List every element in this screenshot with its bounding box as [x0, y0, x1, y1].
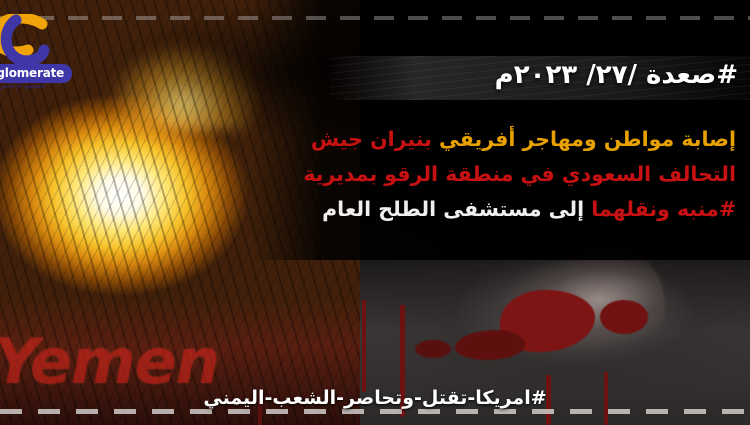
headline-line-2-red: التحالف السعودي في منطقة الرقو بمديرية: [303, 162, 736, 186]
road-dashed-line: [0, 409, 750, 414]
headline-line-2: التحالف السعودي في منطقة الرقو بمديرية: [276, 157, 736, 192]
headline-line-1: إصابة مواطن ومهاجر أفريقي بنيران جيش: [276, 122, 736, 157]
logo-mark-icon: [0, 14, 58, 66]
headline-line-3: #منبه ونقلهما إلى مستشفى الطلح العام: [276, 192, 736, 227]
kicker-date-location: #صعدة /٢٧/ ٢٠٢٣م: [495, 60, 738, 90]
headline-line-1-red: بنيران جيش: [311, 127, 439, 151]
news-graphic-canvas: onglomerate المجمع الإعلامي اليمني #صعدة…: [0, 0, 750, 425]
bottom-hashtag: #امريكا-تقتل-وتحاصر-الشعب-اليمني: [0, 387, 750, 409]
top-dashed-line: [0, 16, 750, 20]
blood-pool: [600, 300, 648, 334]
headline-line-3-white: إلى مستشفى الطلح العام: [322, 197, 591, 221]
conglomerate-logo: onglomerate المجمع الإعلامي اليمني: [0, 14, 82, 92]
headline-line-1-gold: إصابة مواطن ومهاجر أفريقي: [439, 127, 736, 151]
blood-drip: [362, 300, 366, 392]
logo-sub-text: المجمع الإعلامي اليمني: [0, 82, 45, 90]
headline: إصابة مواطن ومهاجر أفريقي بنيران جيش الت…: [276, 122, 736, 227]
headline-line-3-red: #منبه ونقلهما: [591, 197, 736, 221]
blood-pool: [415, 340, 451, 358]
logo-badge-text: onglomerate: [0, 64, 72, 83]
